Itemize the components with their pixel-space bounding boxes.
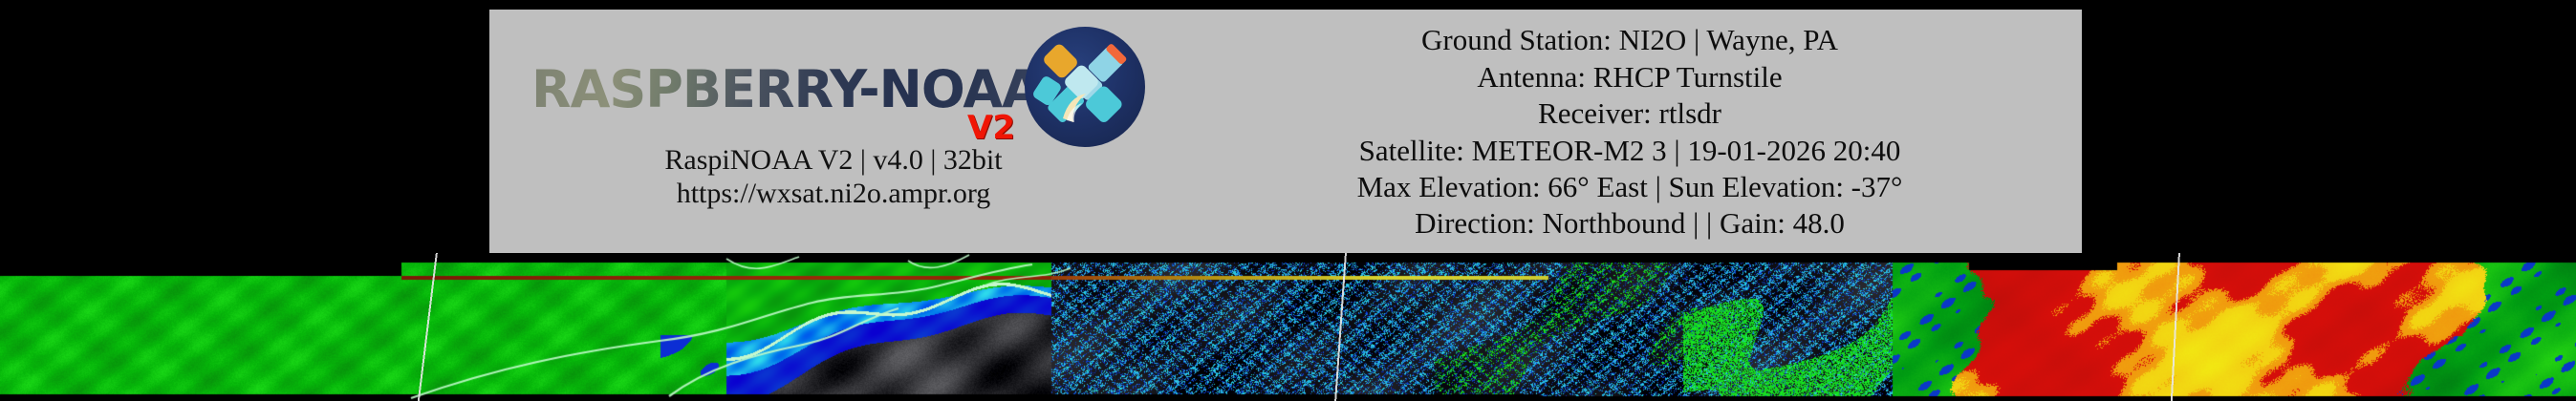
satellite-line: Satellite: METEOR-M2 3 | 19-01-2026 20:4… (1359, 133, 1901, 169)
raspberry-noaa-logo: RASPBERRY-NOAA V2 (518, 21, 1149, 143)
raspinoaa-url-line: https://wxsat.ni2o.ampr.org (677, 177, 991, 210)
logo-wordmark: RASPBERRY-NOAA (531, 59, 1041, 119)
screenshot-root: RASPBERRY-NOAA V2 (0, 0, 2576, 401)
logo-version-badge: V2 (967, 109, 1015, 147)
branding-column: RASPBERRY-NOAA V2 (489, 10, 1178, 253)
pass-image-canvas (0, 253, 2576, 401)
satellite-glyph-icon (1025, 27, 1145, 147)
direction-gain-line: Direction: Northbound | | Gain: 48.0 (1415, 205, 1845, 242)
antenna-line: Antenna: RHCP Turnstile (1477, 59, 1782, 95)
satellite-badge-icon (1025, 27, 1145, 147)
satellite-pass-image (0, 253, 2576, 401)
pass-header-panel: RASPBERRY-NOAA V2 (489, 10, 2082, 253)
raspinoaa-version-line: RaspiNOAA V2 | v4.0 | 32bit (664, 143, 1002, 177)
ground-station-line: Ground Station: NI2O | Wayne, PA (1421, 22, 1838, 58)
receiver-line: Receiver: rtlsdr (1538, 95, 1721, 132)
pass-info-column: Ground Station: NI2O | Wayne, PA Antenna… (1178, 10, 2082, 253)
elevation-line: Max Elevation: 66° East | Sun Elevation:… (1357, 169, 1903, 205)
